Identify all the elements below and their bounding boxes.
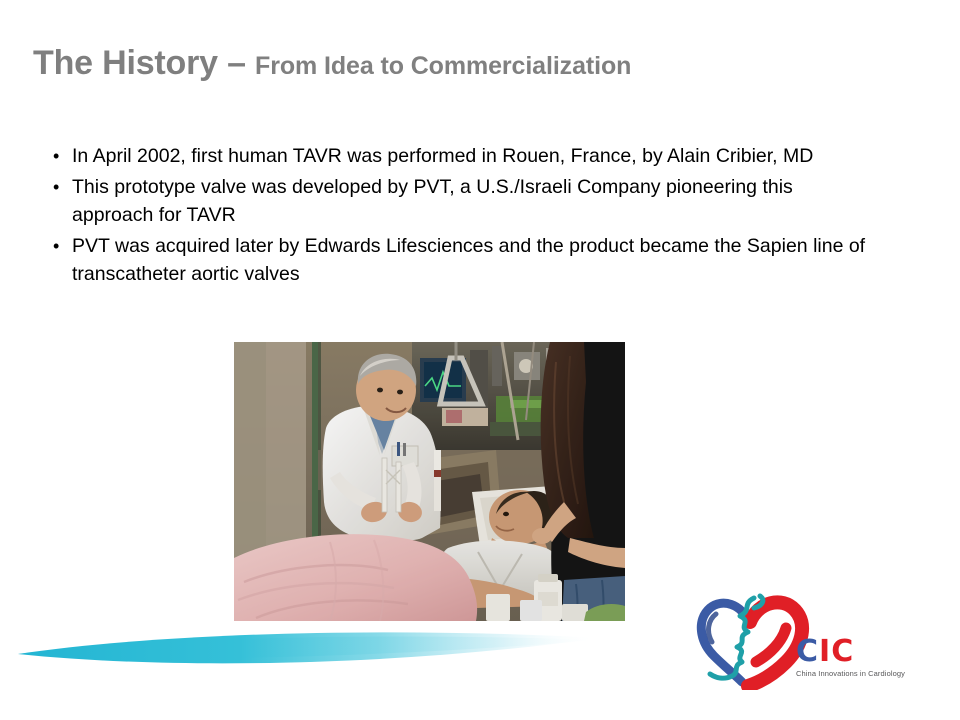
list-item: • This prototype valve was developed by …	[48, 173, 898, 230]
cic-lettering: CIC	[796, 637, 926, 667]
bullet-text: This prototype valve was developed by PV…	[72, 173, 878, 230]
bullet-text: In April 2002, first human TAVR was perf…	[72, 142, 813, 171]
list-item: • PVT was acquired later by Edwards Life…	[48, 232, 898, 289]
first-human-tavr-photo	[234, 342, 625, 621]
presentation-slide: The History – From Idea to Commercializa…	[0, 0, 960, 720]
bullet-list: • In April 2002, first human TAVR was pe…	[48, 142, 898, 291]
cic-letter-c2: C	[831, 634, 854, 669]
heart-icon	[690, 592, 810, 690]
slide-title-main: The History –	[33, 44, 255, 82]
bullet-marker-icon: •	[48, 173, 72, 201]
bullet-marker-icon: •	[48, 232, 72, 260]
cic-letter-c1: C	[796, 634, 819, 669]
cic-tagline: China Innovations in Cardiology	[796, 669, 926, 678]
cic-letter-i: I	[819, 634, 831, 669]
bullet-text: PVT was acquired later by Edwards Lifesc…	[72, 232, 878, 289]
cic-wordmark: CIC China Innovations in Cardiology	[796, 637, 926, 678]
slide-title-subtitle: From Idea to Commercialization	[255, 52, 631, 80]
decorative-swoosh	[0, 612, 640, 702]
slide-title: The History – From Idea to Commercializa…	[33, 44, 631, 83]
list-item: • In April 2002, first human TAVR was pe…	[48, 142, 898, 171]
cic-logo: CIC China Innovations in Cardiology	[690, 592, 930, 697]
bullet-marker-icon: •	[48, 142, 72, 170]
